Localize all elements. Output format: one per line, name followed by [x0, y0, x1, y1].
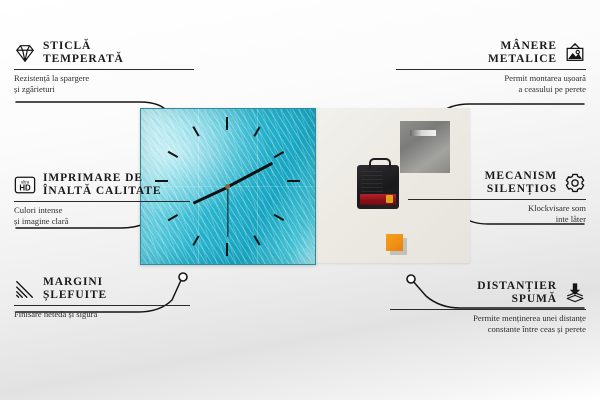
divider — [14, 69, 194, 70]
mechanism-texture — [361, 171, 383, 193]
feature-foam: DISTANȚIER SPUMĂ Permite menținerea unei… — [390, 280, 586, 334]
feature-header: MECANISM SILENȚIOS — [408, 170, 586, 196]
mechanism-hanging-loop — [369, 158, 391, 169]
feature-hooks: MÂNERE METALICE Permit montarea ușoară a… — [396, 40, 586, 94]
feature-header: MARGINI ȘLEFUITE — [14, 276, 190, 302]
divider — [14, 201, 190, 202]
hour-marker — [274, 151, 284, 158]
infographic-canvas: STICLĂ TEMPERATĂ Rezistență la spargere … — [0, 0, 600, 400]
feature-description: Culori intense și imagine clară — [14, 205, 190, 226]
feature-description: Rezistență la spargere și zgârieturi — [14, 73, 194, 94]
feature-title: DISTANȚIER SPUMĂ — [477, 280, 557, 306]
picture-frame-icon — [564, 42, 586, 64]
divider — [408, 199, 586, 200]
battery — [360, 194, 396, 205]
divider — [14, 305, 190, 306]
diamond-icon — [14, 42, 36, 64]
feature-title: MECANISM SILENȚIOS — [485, 170, 557, 196]
foam-spacer-icon — [564, 282, 586, 304]
hour-marker — [274, 214, 284, 221]
hour-marker — [287, 180, 300, 182]
feature-description: Permite menținerea unei distanțe constan… — [390, 313, 586, 334]
svg-text:HD: HD — [19, 184, 31, 193]
metal-hanger-plate — [400, 121, 450, 173]
feature-title: IMPRIMARE DE ÎNALTĂ CALITATE — [43, 172, 161, 198]
feature-glass: STICLĂ TEMPERATĂ Rezistență la spargere … — [14, 40, 194, 94]
feature-edges: MARGINI ȘLEFUITE Finisare netedă și sigu… — [14, 276, 190, 320]
feature-title: MARGINI ȘLEFUITE — [43, 276, 107, 302]
feature-description: Klockvisare som inte låter — [408, 203, 586, 224]
clock-mechanism — [357, 165, 399, 209]
hour-marker — [226, 243, 228, 256]
hanger-slot — [410, 130, 436, 136]
glass-edge — [315, 109, 316, 264]
feature-print: ultra HD IMPRIMARE DE ÎNALTĂ CALITATE Cu… — [14, 172, 190, 226]
hour-marker — [226, 117, 228, 130]
ultra-hd-icon: ultra HD — [14, 174, 36, 196]
feature-header: DISTANȚIER SPUMĂ — [390, 280, 586, 306]
feature-description: Finisare netedă și sigură — [14, 309, 190, 320]
divider — [390, 309, 586, 310]
feature-title: STICLĂ TEMPERATĂ — [43, 40, 124, 66]
feature-mechanism: MECANISM SILENȚIOS Klockvisare som inte … — [408, 170, 586, 224]
clock-hands-pivot — [225, 184, 230, 189]
hour-marker — [168, 151, 178, 158]
gear-icon — [564, 172, 586, 194]
second-hand — [227, 187, 228, 237]
foam-spacer — [386, 234, 403, 251]
polished-edges-icon — [14, 278, 36, 300]
feature-header: MÂNERE METALICE — [396, 40, 586, 66]
battery-terminal — [386, 195, 393, 203]
feature-header: STICLĂ TEMPERATĂ — [14, 40, 194, 66]
feature-header: ultra HD IMPRIMARE DE ÎNALTĂ CALITATE — [14, 172, 190, 198]
minute-hand — [227, 162, 273, 189]
feature-title: MÂNERE METALICE — [488, 40, 557, 66]
divider — [396, 69, 586, 70]
feature-description: Permit montarea ușoară a ceasului pe per… — [396, 73, 586, 94]
